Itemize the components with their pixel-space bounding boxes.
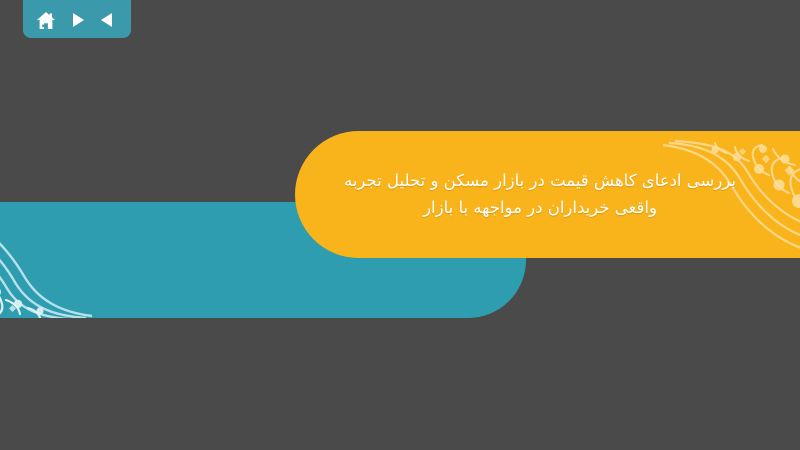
back-arrow-icon [99,11,117,29]
teal-arabesque-ornament [0,202,160,318]
previous-slide-button[interactable] [95,8,121,32]
orange-title-panel: بررسی ادعای کاهش قیمت در بازار مسکن و تح… [295,131,800,258]
slide-canvas: بررسی ادعای کاهش قیمت در بازار مسکن و تح… [0,0,800,450]
slide-navigation-bar [23,0,131,38]
home-icon [36,11,56,30]
home-button[interactable] [33,8,59,32]
next-slide-button[interactable] [64,8,90,32]
slide-title: بررسی ادعای کاهش قیمت در بازار مسکن و تح… [295,168,800,221]
forward-arrow-icon [68,11,86,29]
